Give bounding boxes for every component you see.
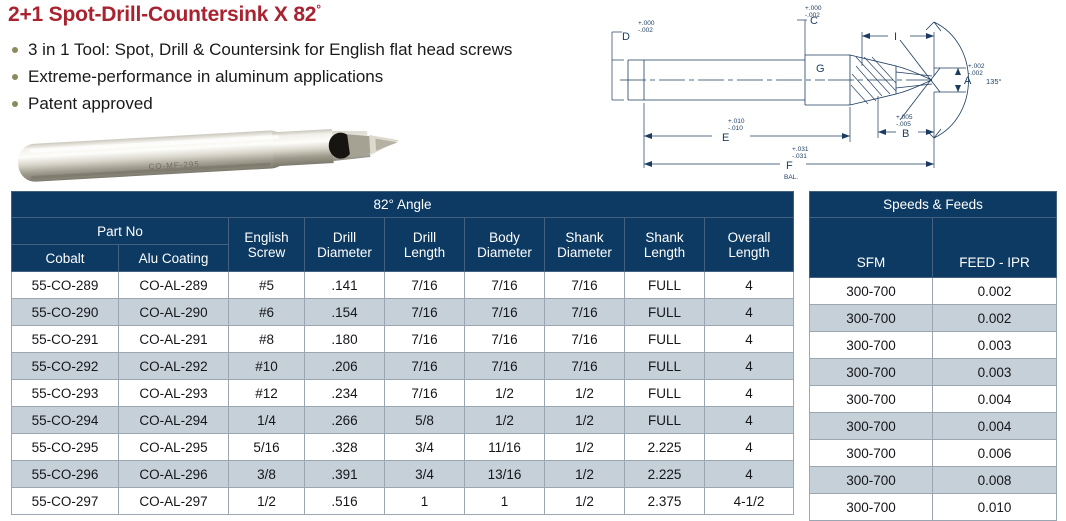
table-row: 300-7000.003: [810, 332, 1057, 359]
header-line-1: Drill: [305, 230, 384, 245]
header-line-2: Diameter: [465, 245, 544, 260]
spec-cell: 1/2: [465, 380, 545, 407]
spec-cell: #10: [229, 353, 305, 380]
spec-cell: 55-CO-297: [12, 488, 119, 515]
spec-cell: CO-AL-297: [119, 488, 229, 515]
spec-cell: 1/2: [545, 434, 625, 461]
spec-cell: .391: [305, 461, 385, 488]
feature-item: Patent approved: [8, 90, 608, 117]
table-row: 300-7000.004: [810, 386, 1057, 413]
table-row: 300-7000.008: [810, 467, 1057, 494]
speeds-feeds-table: Speeds & Feeds SFM FEED - IPR 300-7000.0…: [809, 191, 1057, 521]
speeds-cell: 300-700: [810, 494, 933, 521]
specifications-table: 82° Angle Part No English Screw Drill Di…: [11, 191, 794, 515]
table-row: 55-CO-289CO-AL-289#5.1417/167/167/16FULL…: [12, 272, 794, 299]
spec-cell: 55-CO-295: [12, 434, 119, 461]
spec-cell: 3/4: [385, 434, 465, 461]
feature-text: Extreme-performance in aluminum applicat…: [28, 67, 383, 86]
spec-cell: 1/4: [229, 407, 305, 434]
spec-cell: FULL: [625, 353, 705, 380]
spec-cell: 55-CO-293: [12, 380, 119, 407]
table-row: 300-7000.006: [810, 440, 1057, 467]
spec-cell: CO-AL-291: [119, 326, 229, 353]
speeds-cell: 0.008: [933, 467, 1057, 494]
spec-cell: CO-AL-296: [119, 461, 229, 488]
spec-cell: FULL: [625, 380, 705, 407]
table-row: 55-CO-291CO-AL-291#8.1807/167/167/16FULL…: [12, 326, 794, 353]
header-line-1: English: [229, 230, 304, 245]
spec-cell: .206: [305, 353, 385, 380]
table-row: 55-CO-295CO-AL-2955/16.3283/411/161/22.2…: [12, 434, 794, 461]
header-line-1: Drill: [385, 230, 464, 245]
spec-cell: FULL: [625, 407, 705, 434]
spec-cell: 2.225: [625, 434, 705, 461]
header-line-1: Shank: [625, 230, 704, 245]
speeds-cell: 300-700: [810, 467, 933, 494]
spec-cell: 7/16: [545, 326, 625, 353]
header-line-2: Length: [385, 245, 464, 260]
speeds-cell: 0.004: [933, 413, 1057, 440]
specifications-table-container: 82° Angle Part No English Screw Drill Di…: [11, 191, 794, 515]
spec-cell: #8: [229, 326, 305, 353]
spec-cell: 1/2: [465, 407, 545, 434]
spec-cell: 7/16: [465, 353, 545, 380]
spec-cell: 5/8: [385, 407, 465, 434]
spec-cell: 4: [705, 380, 794, 407]
spec-cell: FULL: [625, 299, 705, 326]
spec-cell: .234: [305, 380, 385, 407]
column-header-overall-length: Overall Length: [705, 218, 794, 272]
speeds-cell: 300-700: [810, 440, 933, 467]
spec-cell: CO-AL-293: [119, 380, 229, 407]
speeds-cell: 300-700: [810, 359, 933, 386]
point-angle-label: 135°: [986, 77, 1002, 86]
speeds-cell: 0.002: [933, 278, 1057, 305]
spec-cell: 7/16: [385, 326, 465, 353]
dim-label-d: D: [622, 31, 630, 43]
page-title-text: 2+1 Spot-Drill-Countersink X 82: [8, 3, 316, 26]
table-row: 55-CO-296CO-AL-2963/8.3913/413/161/22.22…: [12, 461, 794, 488]
tol-d-plus: +.000: [638, 20, 655, 27]
spec-cell: 1/2: [229, 488, 305, 515]
table-row: 300-7000.003: [810, 359, 1057, 386]
product-header: 2+1 Spot-Drill-Countersink X 82° 3 in 1 …: [8, 2, 608, 117]
spec-cell: .141: [305, 272, 385, 299]
bullet-icon: [12, 101, 18, 107]
speeds-feeds-table-container: Speeds & Feeds SFM FEED - IPR 300-7000.0…: [809, 191, 1057, 521]
spec-cell: CO-AL-294: [119, 407, 229, 434]
spec-cell: .516: [305, 488, 385, 515]
table-row: 55-CO-297CO-AL-2971/2.516111/22.3754-1/2: [12, 488, 794, 515]
table-row: 300-7000.002: [810, 278, 1057, 305]
spec-cell: 4: [705, 299, 794, 326]
speeds-cell: 0.002: [933, 305, 1057, 332]
spec-cell: 7/16: [465, 299, 545, 326]
spec-cell: 5/16: [229, 434, 305, 461]
column-header-feed-ipr: FEED - IPR: [933, 218, 1057, 278]
bullet-icon: [12, 74, 18, 80]
spec-cell: 7/16: [545, 272, 625, 299]
tol-c-minus: -.002: [805, 12, 820, 19]
spec-cell: 2.375: [625, 488, 705, 515]
tol-d-minus: -.002: [638, 27, 653, 34]
spec-cell: #5: [229, 272, 305, 299]
speeds-header-row: SFM FEED - IPR: [810, 218, 1057, 278]
tool-product-photo: CO-MF-295: [8, 126, 408, 182]
speeds-cell: 300-700: [810, 278, 933, 305]
feature-list: 3 in 1 Tool: Spot, Drill & Countersink f…: [8, 36, 608, 117]
spec-cell: .328: [305, 434, 385, 461]
page-title: 2+1 Spot-Drill-Countersink X 82°: [8, 2, 608, 28]
tol-c-plus: +.000: [805, 5, 822, 12]
spec-cell: .266: [305, 407, 385, 434]
feature-item: Extreme-performance in aluminum applicat…: [8, 63, 608, 90]
table-row: 55-CO-294CO-AL-2941/4.2665/81/21/2FULL4: [12, 407, 794, 434]
spec-cell: 4: [705, 461, 794, 488]
degree-symbol: °: [316, 2, 321, 16]
spec-cell: 7/16: [385, 380, 465, 407]
spec-cell: 7/16: [385, 272, 465, 299]
tol-a-minus: -.002: [968, 70, 983, 77]
speeds-cell: 0.010: [933, 494, 1057, 521]
header-line-2: Diameter: [305, 245, 384, 260]
tol-a-plus: +.002: [968, 63, 985, 70]
speeds-cell: 0.003: [933, 332, 1057, 359]
table-row: 300-7000.010: [810, 494, 1057, 521]
speeds-cell: 0.006: [933, 440, 1057, 467]
spec-cell: 11/16: [465, 434, 545, 461]
spec-cell: 1: [465, 488, 545, 515]
feature-text: Patent approved: [28, 94, 153, 113]
column-header-shank-length: Shank Length: [625, 218, 705, 272]
spec-cell: 55-CO-290: [12, 299, 119, 326]
speeds-cell: 300-700: [810, 305, 933, 332]
dim-note-bal: BAL.: [784, 174, 798, 181]
spec-cell: 7/16: [465, 272, 545, 299]
spec-cell: 4: [705, 326, 794, 353]
table-group-header-row: 82° Angle: [12, 192, 794, 218]
tol-e-minus: -.010: [728, 125, 743, 132]
column-header-drill-diameter: Drill Diameter: [305, 218, 385, 272]
spec-cell: 7/16: [465, 326, 545, 353]
header-line-2: Diameter: [545, 245, 624, 260]
header-line-2: Length: [625, 245, 704, 260]
angle-group-title: 82° Angle: [12, 192, 794, 218]
spec-cell: FULL: [625, 326, 705, 353]
spec-cell: #12: [229, 380, 305, 407]
speeds-cell: 300-700: [810, 413, 933, 440]
spec-cell: 4: [705, 272, 794, 299]
spec-cell: 3/4: [385, 461, 465, 488]
spec-cell: 7/16: [385, 353, 465, 380]
spec-cell: 55-CO-296: [12, 461, 119, 488]
column-header-sfm: SFM: [810, 218, 933, 278]
spec-cell: 3/8: [229, 461, 305, 488]
spec-cell: 1: [385, 488, 465, 515]
tol-b-plus: +.005: [896, 114, 913, 121]
spec-cell: 55-CO-292: [12, 353, 119, 380]
spec-cell: CO-AL-290: [119, 299, 229, 326]
table-row: 55-CO-290CO-AL-290#6.1547/167/167/16FULL…: [12, 299, 794, 326]
speeds-cell: 0.004: [933, 386, 1057, 413]
speeds-cell: 0.003: [933, 359, 1057, 386]
spec-cell: 13/16: [465, 461, 545, 488]
spec-cell: 4: [705, 434, 794, 461]
spec-cell: .154: [305, 299, 385, 326]
spec-cell: 7/16: [545, 353, 625, 380]
part-no-group-header: Part No: [12, 218, 229, 245]
feature-item: 3 in 1 Tool: Spot, Drill & Countersink f…: [8, 36, 608, 63]
speeds-cell: 300-700: [810, 386, 933, 413]
header-line-2: Screw: [229, 245, 304, 260]
column-header-shank-diameter: Shank Diameter: [545, 218, 625, 272]
spec-cell: 7/16: [545, 299, 625, 326]
spec-cell: 1/2: [545, 461, 625, 488]
bullet-icon: [12, 47, 18, 53]
table-row: 55-CO-292CO-AL-292#10.2067/167/167/16FUL…: [12, 353, 794, 380]
tol-b-minus: -.005: [896, 121, 911, 128]
spec-cell: 4: [705, 353, 794, 380]
tol-f-minus: -.031: [792, 153, 807, 160]
feature-text: 3 in 1 Tool: Spot, Drill & Countersink f…: [28, 40, 512, 59]
table-subgroup-header-row: Part No English Screw Drill Diameter Dri…: [12, 218, 794, 245]
table-row: 300-7000.004: [810, 413, 1057, 440]
specifications-table-body: 55-CO-289CO-AL-289#5.1417/167/167/16FULL…: [12, 272, 794, 515]
dim-label-g: G: [816, 63, 825, 75]
spec-cell: .180: [305, 326, 385, 353]
spec-cell: CO-AL-295: [119, 434, 229, 461]
table-row: 55-CO-293CO-AL-293#12.2347/161/21/2FULL4: [12, 380, 794, 407]
speeds-feeds-table-body: 300-7000.002300-7000.002300-7000.003300-…: [810, 278, 1057, 521]
spec-cell: CO-AL-292: [119, 353, 229, 380]
header-line-2: Length: [705, 245, 793, 260]
spec-cell: #6: [229, 299, 305, 326]
spec-cell: 1/2: [545, 407, 625, 434]
column-header-english-screw: English Screw: [229, 218, 305, 272]
spec-cell: FULL: [625, 272, 705, 299]
column-header-drill-length: Drill Length: [385, 218, 465, 272]
spec-cell: 4-1/2: [705, 488, 794, 515]
spec-cell: 4: [705, 407, 794, 434]
spec-cell: 55-CO-294: [12, 407, 119, 434]
spec-cell: 1/2: [545, 380, 625, 407]
dim-label-b: B: [902, 128, 909, 140]
spec-cell: CO-AL-289: [119, 272, 229, 299]
column-header-alu-coating: Alu Coating: [119, 245, 229, 272]
technical-drawing: D +.000 -.002 C +.000 -.002 G E +.010 -.…: [600, 0, 1066, 186]
header-line-1: Overall: [705, 230, 793, 245]
tol-e-plus: +.010: [728, 118, 745, 125]
dim-label-e: E: [722, 132, 729, 144]
table-row: 300-7000.002: [810, 305, 1057, 332]
spec-cell: 7/16: [385, 299, 465, 326]
header-line-1: Shank: [545, 230, 624, 245]
dim-label-f: F: [786, 160, 793, 172]
speeds-title-row: Speeds & Feeds: [810, 192, 1057, 218]
spec-cell: 55-CO-291: [12, 326, 119, 353]
column-header-cobalt: Cobalt: [12, 245, 119, 272]
dim-label-i: I: [894, 31, 897, 43]
speeds-cell: 300-700: [810, 332, 933, 359]
speeds-feeds-title: Speeds & Feeds: [810, 192, 1057, 218]
tol-f-plus: +.031: [792, 146, 809, 153]
header-line-1: Body: [465, 230, 544, 245]
spec-cell: 1/2: [545, 488, 625, 515]
column-header-body-diameter: Body Diameter: [465, 218, 545, 272]
spec-cell: 2.225: [625, 461, 705, 488]
spec-cell: 55-CO-289: [12, 272, 119, 299]
